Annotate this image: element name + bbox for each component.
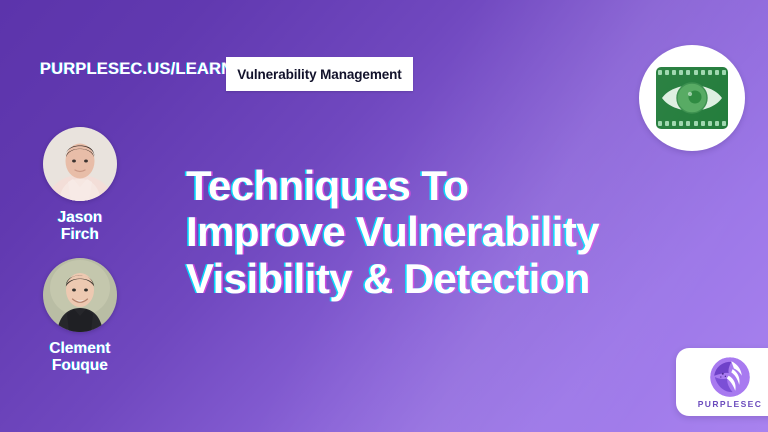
speaker-name: Jason Firch <box>0 210 160 243</box>
speaker-last-name: Fouque <box>0 358 160 375</box>
eye-icon <box>660 78 724 118</box>
category-badge: Vulnerability Management <box>226 57 413 91</box>
purplesec-dragon-icon <box>709 356 751 398</box>
avatar <box>43 258 117 332</box>
site-kicker: PURPLESEC.US/LEARN <box>40 60 233 79</box>
title-line-1: Techniques To <box>186 163 706 209</box>
title-line-2: Improve Vulnerability <box>186 209 706 255</box>
page-title: Techniques To Improve Vulnerability Visi… <box>186 163 706 302</box>
speaker-name: Clement Fouque <box>0 341 160 374</box>
speaker-jason-firch: Jason Firch <box>0 127 160 243</box>
speaker-first-name: Clement <box>0 341 160 358</box>
speaker-last-name: Firch <box>0 227 160 244</box>
film-perforations-top <box>656 69 728 76</box>
eye-logo-badge <box>639 45 745 151</box>
eye-logo-plate <box>656 67 728 129</box>
purplesec-wordmark: PURPLESEC <box>698 399 763 409</box>
film-perforations-bottom <box>656 120 728 127</box>
avatar-photo-clement <box>43 258 117 332</box>
speaker-clement-fouque: Clement Fouque <box>0 258 160 374</box>
speaker-first-name: Jason <box>0 210 160 227</box>
title-line-3: Visibility & Detection <box>186 256 706 302</box>
thumbnail-canvas: PURPLESEC.US/LEARN Vulnerability Managem… <box>0 0 768 432</box>
avatar <box>43 127 117 201</box>
category-badge-label: Vulnerability Management <box>237 67 401 82</box>
purplesec-logo-panel: PURPLESEC <box>676 348 768 416</box>
avatar-photo-jason <box>43 127 117 201</box>
